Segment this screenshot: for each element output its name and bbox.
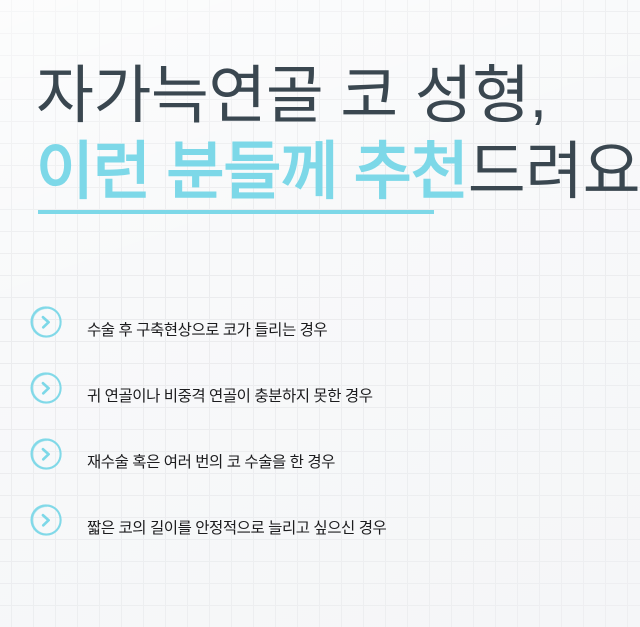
headline-trailing-text: 드려요! (468, 137, 640, 207)
headline-accent-text: 이런 분들께 추천 (36, 137, 468, 207)
headline-block: 자가늑연골 코 성형, 이런 분들께 추천드려요! (36, 64, 616, 218)
list-item-label: 귀 연골이나 비중격 연골이 충분하지 못한 경우 (87, 362, 373, 428)
list-item-label: 수술 후 구축현상으로 코가 들리는 경우 (87, 296, 327, 362)
headline-line-1: 자가늑연골 코 성형, (36, 64, 616, 140)
headline-line-2: 이런 분들께 추천드려요! (36, 140, 616, 218)
circle-chevron-right-icon (29, 503, 63, 537)
list-item: 수술 후 구축현상으로 코가 들리는 경우 (0, 296, 640, 362)
circle-chevron-right-icon (29, 305, 63, 339)
list-item: 짧은 코의 길이를 안정적으로 늘리고 싶으신 경우 (0, 494, 640, 560)
promo-banner: 자가늑연골 코 성형, 이런 분들께 추천드려요! 수술 후 구축현상으로 (0, 0, 640, 627)
list-item-label: 짧은 코의 길이를 안정적으로 늘리고 싶으신 경우 (87, 494, 386, 560)
list-item: 재수술 혹은 여러 번의 코 수술을 한 경우 (0, 428, 640, 494)
headline-accent-underline (38, 210, 434, 214)
circle-chevron-right-icon (29, 371, 63, 405)
list-item: 귀 연골이나 비중격 연골이 충분하지 못한 경우 (0, 362, 640, 428)
recommendation-list: 수술 후 구축현상으로 코가 들리는 경우 귀 연골이나 비중격 연골이 충분하… (0, 296, 640, 560)
circle-chevron-right-icon (29, 437, 63, 471)
list-item-label: 재수술 혹은 여러 번의 코 수술을 한 경우 (87, 428, 335, 494)
